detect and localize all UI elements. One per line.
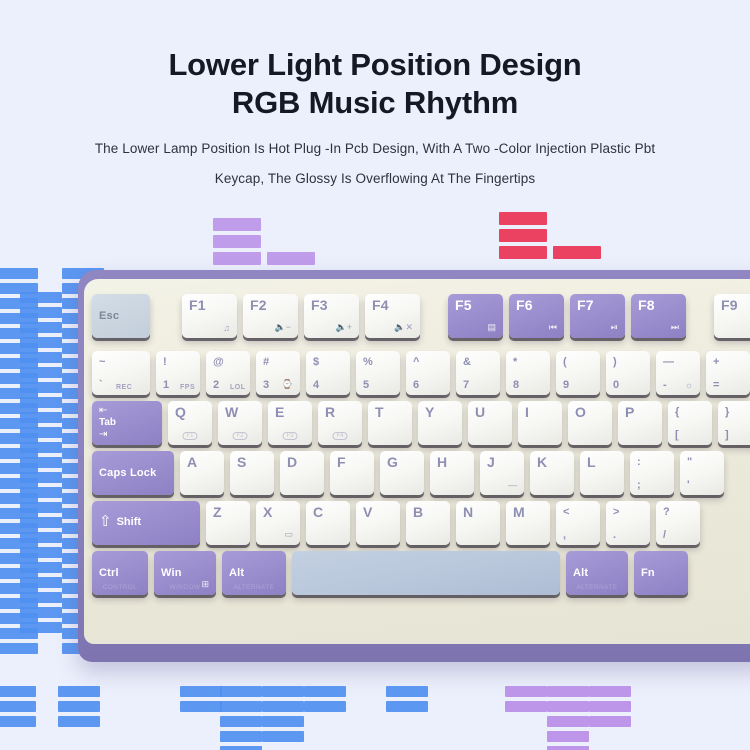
equalizer-top-left (213, 218, 321, 269)
key-label: + (713, 356, 743, 368)
key-ghost-legend: ALTERNATE (577, 584, 618, 591)
equalizer-top-right (499, 212, 607, 263)
equalizer-bottom-column (589, 686, 631, 731)
key-media-icon: ♫ (223, 323, 230, 333)
key-sublabel: 1 (163, 379, 169, 391)
equalizer-segment (0, 686, 36, 697)
key-f5[interactable]: F5▤ (448, 294, 503, 338)
key-f9[interactable]: F9✉ (714, 294, 750, 338)
key-f3[interactable]: F3🔈+ (304, 294, 359, 338)
keyboard-row-number-row: ~`REC!1FPS@2LOL#3⌚$4%5^6&7*8(9)0—-☼+= (92, 351, 750, 395)
equalizer-segment (220, 746, 262, 750)
key-h[interactable]: H (430, 451, 474, 495)
subtitle-line-1: The Lower Lamp Position Is Hot Plug -In … (0, 134, 750, 164)
key-key[interactable]: <, (556, 501, 600, 545)
key-caps-lock[interactable]: Caps Lock (92, 451, 174, 495)
key-r[interactable]: RF4 (318, 401, 362, 445)
key-label: X (263, 506, 293, 518)
equalizer-segment (589, 686, 631, 697)
equalizer-segment (20, 592, 62, 603)
key-alt[interactable]: AltALTERNATE (566, 551, 628, 595)
shift-arrow-icon: ⇧ (99, 515, 112, 529)
key-media-icon: 🔈✕ (394, 322, 413, 333)
key-media-icon: ⏮ (549, 322, 557, 333)
key-label: ~ (99, 356, 143, 368)
key-label: Fn (641, 567, 681, 579)
key-key[interactable]: !1FPS (156, 351, 200, 395)
equalizer-segment (180, 701, 222, 712)
key-sublabel: 0 (613, 379, 619, 391)
key-i[interactable]: I (518, 401, 562, 445)
equalizer-segment (0, 701, 36, 712)
equalizer-left-column (20, 292, 62, 637)
equalizer-segment (20, 547, 62, 558)
key-label: H (437, 456, 467, 468)
key-label: # (263, 356, 293, 368)
equalizer-segment (304, 686, 346, 697)
key-sublabel: ` (99, 379, 103, 391)
key-label: F9 (721, 299, 750, 311)
equalizer-segment (20, 412, 62, 423)
equalizer-segment (262, 701, 304, 712)
equalizer-segment (213, 235, 261, 248)
equalizer-segment (499, 229, 547, 242)
equalizer-segment (213, 218, 261, 231)
key-a[interactable]: A (180, 451, 224, 495)
key-sublabel: 2 (213, 379, 219, 391)
equalizer-segment (20, 502, 62, 513)
key-label: S (237, 456, 267, 468)
key-f2[interactable]: F2🔈− (243, 294, 298, 338)
key-g[interactable]: G (380, 451, 424, 495)
key-label: B (413, 506, 443, 518)
key-label: ? (663, 506, 693, 518)
key-label: Q (175, 406, 205, 418)
key-key[interactable]: #3⌚ (256, 351, 300, 395)
key-label: Z (213, 506, 243, 518)
key-sublabel: 4 (313, 379, 319, 391)
keyboard-row-shift-row: ⇧ShiftZX▭CVBNM<,>.?/ (92, 501, 706, 545)
equalizer-segment (220, 686, 262, 697)
key-label: > (613, 506, 643, 518)
equalizer-segment (589, 701, 631, 712)
key-f8[interactable]: F8⏭ (631, 294, 686, 338)
equalizer-segment (20, 517, 62, 528)
key-shift[interactable]: ⇧Shift (92, 501, 200, 545)
key-label: I (525, 406, 555, 418)
equalizer-segment (499, 246, 547, 259)
key-media-icon: 🔈+ (336, 322, 352, 333)
key-n[interactable]: N (456, 501, 500, 545)
key-label: F2 (250, 299, 291, 311)
key-ghost-legend: WINDOW (170, 584, 201, 591)
key-sublabel: ; (637, 479, 641, 491)
equalizer-segment (58, 701, 100, 712)
key-label: Shift (117, 516, 141, 528)
key-secondary-icon: ▭ (284, 529, 293, 540)
key-p[interactable]: P (618, 401, 662, 445)
key-key[interactable]: "' (680, 451, 724, 495)
key-label: % (363, 356, 393, 368)
key-label: ( (563, 356, 593, 368)
key-label: Esc (99, 310, 143, 322)
equalizer-bottom-column (180, 686, 222, 716)
key-label: ) (613, 356, 643, 368)
keyboard-row-qwerty-row: ⇤Tab⇥QF1WF2EF3RF4TYUIOP{[}] (92, 401, 750, 445)
key-x[interactable]: X▭ (256, 501, 300, 545)
equalizer-bottom-column (304, 686, 346, 716)
key-media-icon: ▤ (487, 322, 496, 333)
tab-arrow-right-icon: ⇥ (99, 430, 155, 439)
key-key[interactable]: *8 (506, 351, 550, 395)
key-key[interactable]: )0 (606, 351, 650, 395)
key-label: " (687, 456, 717, 468)
key-o[interactable]: O (568, 401, 612, 445)
key-label: ^ (413, 356, 443, 368)
equalizer-segment (0, 268, 38, 279)
key-z[interactable]: Z (206, 501, 250, 545)
key-media-icon: 🔈− (275, 322, 291, 333)
key-m[interactable]: M (506, 501, 550, 545)
equalizer-segment (20, 307, 62, 318)
key-label: @ (213, 356, 243, 368)
key-f[interactable]: F (330, 451, 374, 495)
key-secondary-icon: — (508, 480, 517, 490)
equalizer-segment (0, 643, 38, 654)
key-f7[interactable]: F7⏯ (570, 294, 625, 338)
key-key[interactable]: >. (606, 501, 650, 545)
key-label: F6 (516, 299, 557, 311)
key-sublabel: - (663, 379, 667, 391)
equalizer-segment (547, 686, 589, 697)
key-secondary-icon: ☼ (685, 380, 693, 390)
tab-key-glyphs: ⇤Tab⇥ (99, 406, 155, 439)
equalizer-segment (547, 716, 589, 727)
key-label: M (513, 506, 543, 518)
equalizer-segment (20, 457, 62, 468)
key-label: U (475, 406, 505, 418)
key-k[interactable]: K (530, 451, 574, 495)
key-media-icon: ⏭ (671, 322, 679, 333)
key-key[interactable]: $4 (306, 351, 350, 395)
key-secondary-icon: ⊞ (201, 579, 209, 590)
equalizer-segment (553, 246, 601, 259)
key-label: F8 (638, 299, 679, 311)
key-sublabel: 3 (263, 379, 269, 391)
key-label: V (363, 506, 393, 518)
key-y[interactable]: Y (418, 401, 462, 445)
equalizer-segment (20, 292, 62, 303)
key-label: E (275, 406, 305, 418)
equalizer-segment (220, 731, 262, 742)
key-label: : (637, 456, 667, 468)
keyboard-row-function-row: EscF1♫F2🔈−F3🔈+F4🔈✕F5▤F6⏮F7⏯F8⏭F9✉F10 (92, 294, 750, 338)
equalizer-segment (213, 252, 261, 265)
key-key[interactable]: }] (718, 401, 750, 445)
key-j[interactable]: J— (480, 451, 524, 495)
key-label: F5 (455, 299, 496, 311)
key-fn[interactable]: Fn (634, 551, 688, 595)
equalizer-segment (20, 487, 62, 498)
key-b[interactable]: B (406, 501, 450, 545)
keyboard: EscF1♫F2🔈−F3🔈+F4🔈✕F5▤F6⏮F7⏯F8⏭F9✉F10~`RE… (78, 270, 750, 662)
equalizer-segment (20, 322, 62, 333)
equalizer-segment (220, 701, 262, 712)
equalizer-segment (20, 607, 62, 618)
key-w[interactable]: WF2 (218, 401, 262, 445)
key-sublabel: / (663, 529, 666, 541)
key-f1[interactable]: F1♫ (182, 294, 237, 338)
equalizer-segment (20, 352, 62, 363)
key-label: F (337, 456, 367, 468)
equalizer-segment (20, 562, 62, 573)
equalizer-bottom-column (386, 686, 428, 716)
key-label: G (387, 456, 417, 468)
equalizer-segment (58, 716, 100, 727)
key-label: { (675, 406, 705, 418)
key-secondary-icon: ⌚ (282, 379, 293, 390)
subtitle-line-2: Keycap, The Glossy Is Overflowing At The… (0, 164, 750, 194)
key-e[interactable]: EF3 (268, 401, 312, 445)
key-key[interactable]: :; (630, 451, 674, 495)
key-t[interactable]: T (368, 401, 412, 445)
equalizer-segment (20, 472, 62, 483)
key-space[interactable] (292, 551, 560, 595)
key-label: C (313, 506, 343, 518)
equalizer-segment (262, 686, 304, 697)
equalizer-segment (20, 427, 62, 438)
equalizer-segment (267, 252, 315, 265)
key-sublabel: ] (725, 429, 729, 441)
key-label: Caps Lock (99, 467, 167, 479)
equalizer-segment (20, 367, 62, 378)
equalizer-segment (386, 686, 428, 697)
key-game-legend: FPS (180, 384, 195, 391)
headline-line-1: Lower Light Position Design (0, 46, 750, 84)
key-sublabel: 9 (563, 379, 569, 391)
key-label: P (625, 406, 655, 418)
key-label: Alt (573, 567, 621, 579)
equalizer-segment (547, 746, 589, 750)
key-label: A (187, 456, 217, 468)
key-tab[interactable]: ⇤Tab⇥ (92, 401, 162, 445)
key-media-icon: ⏯ (611, 322, 618, 333)
key-s[interactable]: S (230, 451, 274, 495)
equalizer-segment (505, 686, 547, 697)
equalizer-segment (499, 212, 547, 225)
equalizer-segment (589, 716, 631, 727)
key-sublabel: ' (687, 479, 690, 491)
key-game-legend: REC (116, 384, 132, 391)
key-ctrl[interactable]: CtrlCONTROL (92, 551, 148, 595)
equalizer-segment (20, 532, 62, 543)
key-key[interactable]: %5 (356, 351, 400, 395)
key-label: } (725, 406, 750, 418)
key-c[interactable]: C (306, 501, 350, 545)
key-label: Tab (99, 417, 155, 428)
equalizer-segment (20, 442, 62, 453)
shift-key-content: ⇧Shift (99, 515, 193, 529)
key-label: F3 (311, 299, 352, 311)
key-label: * (513, 356, 543, 368)
equalizer-column (553, 246, 601, 263)
key-sublabel: 5 (363, 379, 369, 391)
key-fn-hint: F2 (232, 432, 247, 440)
key-sublabel: 6 (413, 379, 419, 391)
key-f4[interactable]: F4🔈✕ (365, 294, 420, 338)
key-label: D (287, 456, 317, 468)
key-label: T (375, 406, 405, 418)
key-rgb-glow (289, 548, 563, 600)
key-label: & (463, 356, 493, 368)
key-v[interactable]: V (356, 501, 400, 545)
key-label: — (663, 356, 693, 368)
key-sublabel: , (563, 529, 566, 541)
key-sublabel: 7 (463, 379, 469, 391)
equalizer-column (213, 218, 261, 269)
keyboard-row-home-row: Caps LockASDFGHJ—KL:;"' (92, 451, 730, 495)
key-fn-hint: F1 (182, 432, 197, 440)
key-sublabel: . (613, 529, 616, 541)
equalizer-segment (58, 686, 100, 697)
product-banner: Lower Light Position Design RGB Music Rh… (0, 0, 750, 750)
key-q[interactable]: QF1 (168, 401, 212, 445)
equalizer-segment (20, 397, 62, 408)
key-label: W (225, 406, 255, 418)
key-label: J (487, 456, 517, 468)
key-key[interactable]: {[ (668, 401, 712, 445)
key-fn-hint: F4 (332, 432, 347, 440)
keyboard-row-bottom-row: CtrlCONTROLWin⊞WINDOWAltALTERNATEAltALTE… (92, 551, 694, 595)
key-u[interactable]: U (468, 401, 512, 445)
key-f6[interactable]: F6⏮ (509, 294, 564, 338)
key-label: N (463, 506, 493, 518)
key-key[interactable]: ~`REC (92, 351, 150, 395)
key-sublabel: [ (675, 429, 679, 441)
equalizer-segment (180, 686, 222, 697)
equalizer-bottom-column (0, 686, 36, 731)
equalizer-segment (20, 382, 62, 393)
key-alt[interactable]: AltALTERNATE (222, 551, 286, 595)
key-sublabel: = (713, 379, 719, 391)
equalizer-segment (20, 622, 62, 633)
equalizer-segment (0, 716, 36, 727)
key-label: Ctrl (99, 567, 141, 579)
equalizer-segment (547, 701, 589, 712)
equalizer-segment (304, 701, 346, 712)
equalizer-segment (20, 577, 62, 588)
keyboard-key-rows: EscF1♫F2🔈−F3🔈+F4🔈✕F5▤F6⏮F7⏯F8⏭F9✉F10~`RE… (92, 294, 750, 662)
key-key[interactable]: += (706, 351, 750, 395)
equalizer-segment (20, 337, 62, 348)
equalizer-segment (386, 701, 428, 712)
equalizer-segment (262, 716, 304, 727)
key-fn-hint: F3 (282, 432, 297, 440)
key-label: < (563, 506, 593, 518)
equalizer-segment (505, 701, 547, 712)
key-label: ! (163, 356, 193, 368)
equalizer-segment (547, 731, 589, 742)
key-key[interactable]: —-☼ (656, 351, 700, 395)
key-l[interactable]: L (580, 451, 624, 495)
key-label: Win (161, 567, 209, 579)
key-label: Alt (229, 567, 279, 579)
headline-block: Lower Light Position Design RGB Music Rh… (0, 46, 750, 194)
equalizer-segment (220, 716, 262, 727)
key-sublabel: 8 (513, 379, 519, 391)
key-label: Y (425, 406, 455, 418)
equalizer-bottom-column (505, 686, 547, 716)
key-label: F7 (577, 299, 618, 311)
key-esc[interactable]: Esc (92, 294, 150, 338)
key-key[interactable]: (9 (556, 351, 600, 395)
key-label: O (575, 406, 605, 418)
key-d[interactable]: D (280, 451, 324, 495)
key-key[interactable]: ?/ (656, 501, 700, 545)
headline-line-2: RGB Music Rhythm (0, 84, 750, 122)
equalizer-column (499, 212, 547, 263)
equalizer-segment (262, 731, 304, 742)
equalizer-column (267, 252, 315, 269)
key-key[interactable]: &7 (456, 351, 500, 395)
key-label: F4 (372, 299, 413, 311)
key-label: R (325, 406, 355, 418)
key-game-legend: LOL (230, 384, 246, 391)
key-key[interactable]: ^6 (406, 351, 450, 395)
equalizer-bottom-column (547, 686, 589, 750)
key-win[interactable]: Win⊞WINDOW (154, 551, 216, 595)
key-label: L (587, 456, 617, 468)
equalizer-bottom-column (262, 686, 304, 746)
key-ghost-legend: ALTERNATE (234, 584, 275, 591)
key-label: K (537, 456, 567, 468)
equalizer-bottom-column (220, 686, 262, 750)
key-label: $ (313, 356, 343, 368)
tab-arrow-left-icon: ⇤ (99, 406, 155, 415)
key-key[interactable]: @2LOL (206, 351, 250, 395)
key-ghost-legend: CONTROL (103, 584, 138, 591)
key-label: F1 (189, 299, 230, 311)
equalizer-bottom-column (58, 686, 100, 731)
